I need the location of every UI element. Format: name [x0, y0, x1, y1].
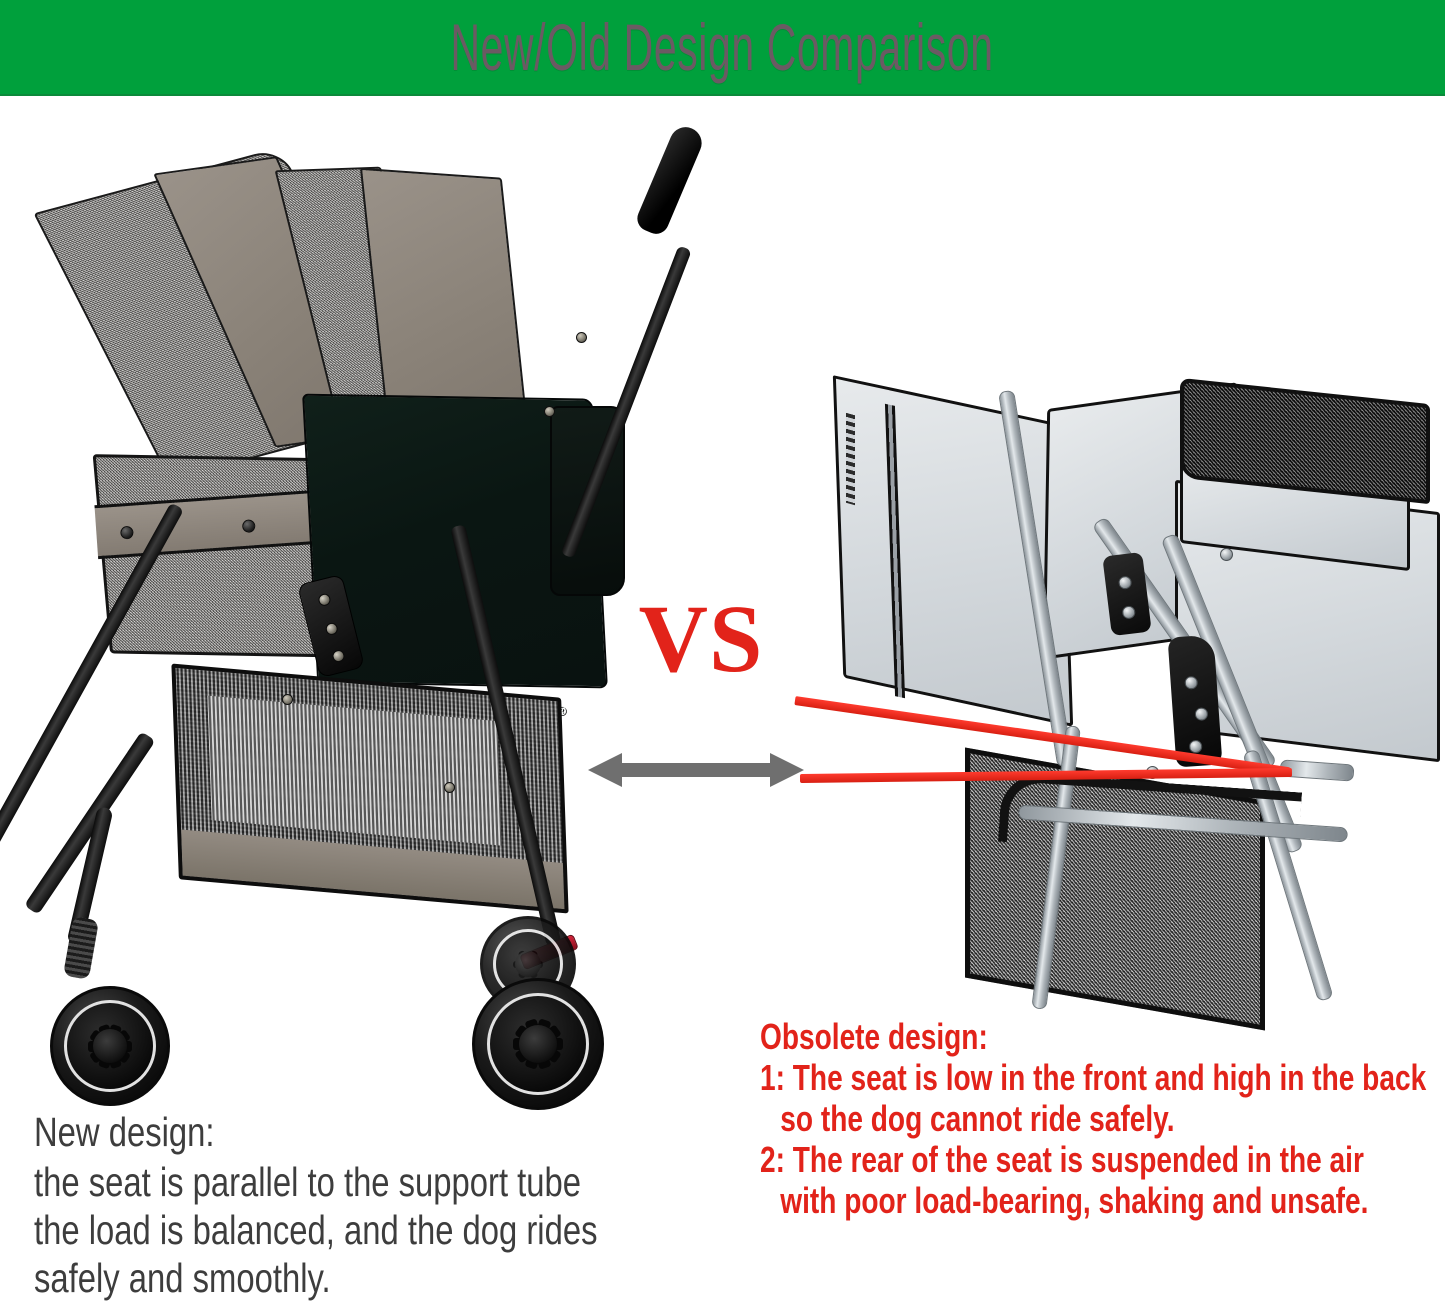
front-wheel: [50, 986, 170, 1106]
obsolete-design-heading: Obsolete design:: [760, 1016, 1294, 1057]
screw: [1194, 707, 1208, 721]
old-hinge-bracket-lower: [1168, 635, 1223, 768]
hinge-rivet: [324, 622, 339, 637]
obsolete-design-line-2: so the dog cannot ride safely.: [760, 1098, 1294, 1139]
hinge-rivet: [317, 593, 332, 608]
screw: [1189, 740, 1203, 754]
wheel-hub: [519, 1025, 557, 1063]
double-headed-arrow-icon: [588, 751, 804, 789]
obsolete-design-line-4: with poor load-bearing, shaking and unsa…: [760, 1180, 1294, 1221]
wheel-hub: [515, 951, 541, 977]
snap-button: [120, 526, 134, 540]
frame-rivet: [282, 694, 293, 705]
screw: [1122, 605, 1136, 619]
comparison-stage: ROODO® ROODO: [0, 96, 1445, 1304]
frame-rivet: [544, 406, 555, 417]
new-design-line-3: safely and smoothly.: [34, 1254, 626, 1302]
new-design-caption: New design: the seat is parallel to the …: [34, 1108, 774, 1302]
basket-mesh-highlight: [207, 695, 501, 845]
obsolete-design-stroller-image: [790, 296, 1440, 1016]
obsolete-design-caption: Obsolete design: 1: The seat is low in t…: [760, 1016, 1445, 1221]
screw: [1184, 676, 1198, 690]
lower-storage-basket: [171, 663, 568, 913]
screw: [1118, 575, 1132, 589]
snap-button: [242, 519, 256, 533]
new-design-line-1: the seat is parallel to the support tube: [34, 1158, 626, 1206]
hinge-rivet: [331, 649, 346, 664]
wheel-hub: [93, 1029, 127, 1063]
page-title: New/Old Design Comparison: [451, 14, 994, 80]
wheel-rim: [487, 993, 589, 1095]
screw: [1220, 548, 1233, 561]
rear-wheel: [472, 978, 604, 1110]
old-snap-strip: [846, 413, 855, 506]
new-design-line-2: the load is balanced, and the dog rides: [34, 1206, 626, 1254]
basket-bottom-trim: [181, 830, 564, 909]
vs-badge: VS: [586, 574, 816, 704]
frame-rivet: [576, 332, 587, 343]
header-banner: New/Old Design Comparison: [0, 0, 1445, 96]
handle-grip: [633, 122, 706, 238]
front-fork-spring: [63, 916, 99, 980]
new-design-stroller-image: ROODO® ROODO: [20, 106, 640, 1016]
wheel-rim: [64, 1000, 156, 1092]
new-design-heading: New design:: [34, 1108, 626, 1156]
obsolete-design-line-3: 2: The rear of the seat is suspended in …: [760, 1139, 1294, 1180]
frame-rivet: [444, 782, 455, 793]
obsolete-design-line-1: 1: The seat is low in the front and high…: [760, 1057, 1294, 1098]
vs-label: VS: [639, 591, 764, 687]
